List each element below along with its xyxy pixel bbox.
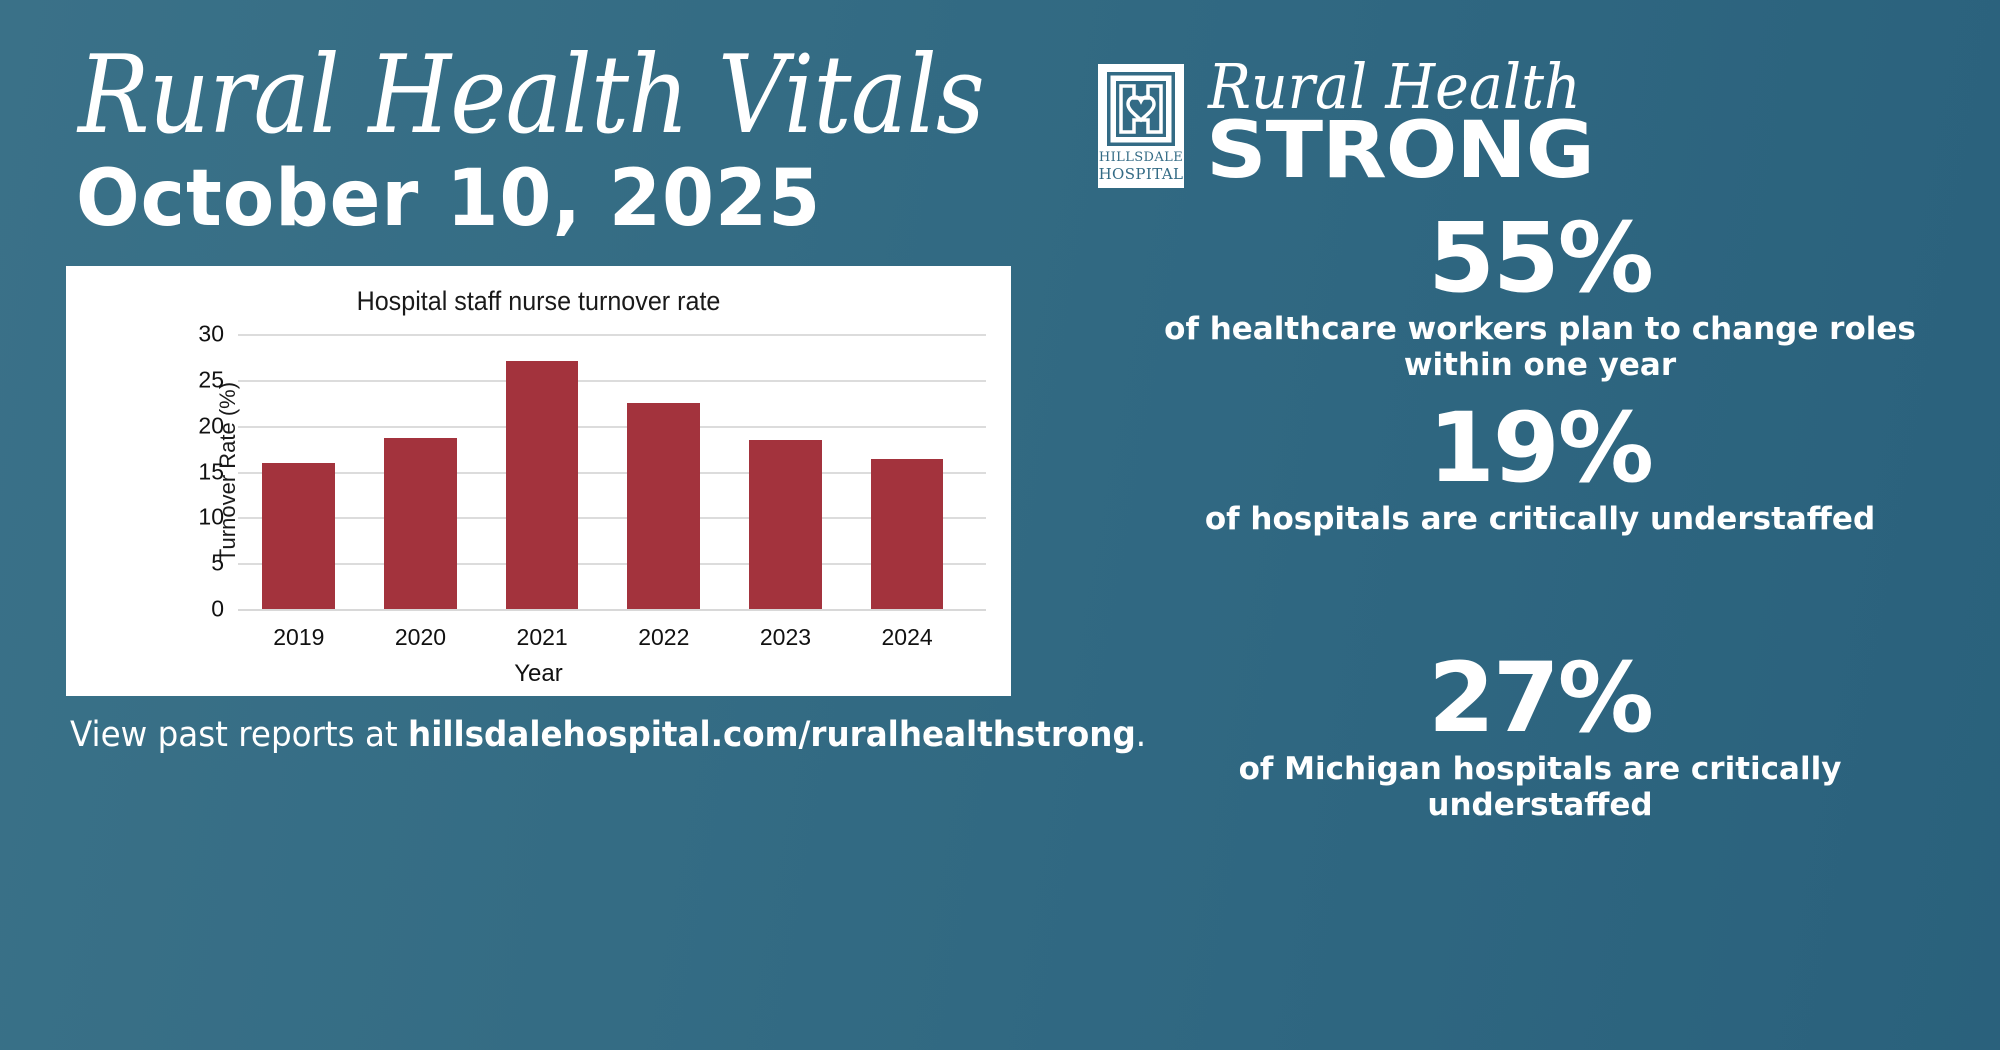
stat-number: 27% [1080,650,2000,746]
chart-x-tick-labels: 201920202021202220232024 [238,624,968,651]
stat-block: 19%of hospitals are critically understaf… [1080,400,2000,538]
y-tick-label: 10 [198,504,224,531]
footer-prefix: View past reports at [70,715,408,755]
hillsdale-hospital-logo: HILLSDALE HOSPITAL [1098,64,1184,188]
left-column: Rural Health Vitals October 10, 2025 Hos… [0,0,1080,1050]
x-tick-label: 2020 [360,624,481,651]
brand-strong-text: STRONG [1206,106,1594,196]
stat-number: 19% [1080,400,2000,496]
stat-block: 55%of healthcare workers plan to change … [1080,210,2000,384]
chart-bar-group [603,334,724,609]
y-tick-label: 25 [198,366,224,393]
chart-bar-group [360,334,481,609]
gridline [238,609,986,611]
footer-url[interactable]: hillsdalehospital.com/ruralhealthstrong [408,715,1136,755]
x-tick-label: 2019 [238,624,359,651]
chart-bar-group [482,334,603,609]
chart-title: Hospital staff nurse turnover rate [99,286,978,317]
x-tick-label: 2022 [603,624,724,651]
y-tick-label: 20 [198,412,224,439]
logo-line-1: HILLSDALE [1099,150,1183,165]
stat-number: 55% [1080,210,2000,306]
chart-bar [749,440,822,609]
chart-bar [384,438,457,609]
chart-card: Hospital staff nurse turnover rate Turno… [66,266,1011,696]
y-tick-label: 15 [198,458,224,485]
chart-bar [627,403,700,609]
stat-block: 27%of Michigan hospitals are critically … [1080,650,2000,824]
y-tick-label: 0 [211,596,224,623]
logo-line-2: HOSPITAL [1099,165,1184,183]
x-tick-label: 2023 [725,624,846,651]
x-tick-label: 2021 [482,624,603,651]
logo-wordmark: HILLSDALE HOSPITAL [1098,147,1184,182]
stat-caption: of healthcare workers plan to change rol… [1080,312,2000,384]
x-tick-label: 2024 [847,624,968,651]
chart-x-axis-label: Year [66,660,1011,688]
y-tick-label: 30 [198,321,224,348]
chart-bar [262,463,335,609]
chart-bar-group [238,334,359,609]
infographic-canvas: Rural Health Vitals October 10, 2025 Hos… [0,0,2000,1050]
y-tick-label: 5 [211,550,224,577]
chart-bar [871,459,944,609]
stat-caption: of Michigan hospitals are critically und… [1080,752,2000,824]
chart-bar [506,361,579,609]
page-title-script: Rural Health Vitals [78,42,984,150]
chart-bar-group [847,334,968,609]
footer-note: View past reports at hillsdalehospital.c… [70,715,981,755]
hospital-heart-icon [1107,72,1175,146]
page-title-date: October 10, 2025 [76,160,821,238]
brand-bar: HILLSDALE HOSPITAL Rural Health STRONG [1090,56,1990,196]
stat-caption: of hospitals are critically understaffed [1080,502,2000,538]
chart-plot-area: Turnover Rate (%) 051015202530 [238,334,968,609]
chart-bars [238,334,968,609]
chart-bar-group [725,334,846,609]
right-column: HILLSDALE HOSPITAL Rural Health STRONG 5… [1080,0,2000,1050]
